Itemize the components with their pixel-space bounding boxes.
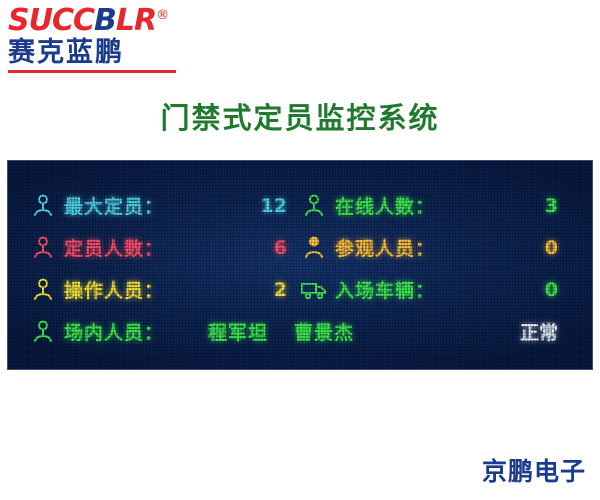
led-cell-max-capacity: 最大定员： 12 xyxy=(30,192,301,220)
led-cell-visitors: 参观人员： 0 xyxy=(301,234,572,262)
led-value: 12 xyxy=(261,195,301,217)
led-cell-online-count: 在线人数： 3 xyxy=(301,192,572,220)
led-row-onsite-personnel: 场内人员： 程军坦 曹景杰 正常 xyxy=(30,313,572,350)
led-row: 最大定员： 12 在线人数： 3 xyxy=(30,187,572,224)
truck-green-icon xyxy=(301,276,327,304)
led-cell-required-staff: 定员人数： 6 xyxy=(30,234,301,262)
led-label: 入场车辆： xyxy=(335,276,435,303)
led-display-panel: 最大定员： 12 在线人数： 3 xyxy=(7,160,593,370)
person-yellow-icon xyxy=(30,276,56,304)
person-pink-icon xyxy=(30,234,56,262)
logo-text-succ: SUCC xyxy=(8,3,94,38)
person-green-icon xyxy=(301,192,327,220)
led-value: 3 xyxy=(545,195,572,217)
list-item: 程军坦 xyxy=(208,318,268,345)
onsite-names-list: 程军坦 曹景杰 xyxy=(208,318,354,345)
logo-text-b: B xyxy=(94,3,116,38)
led-label: 在线人数： xyxy=(335,192,435,219)
led-value: 2 xyxy=(274,279,301,301)
led-rows-container: 最大定员： 12 在线人数： 3 xyxy=(30,187,572,350)
person-green-icon xyxy=(30,318,56,346)
logo-underline-divider xyxy=(8,70,176,73)
led-label: 操作人员： xyxy=(64,276,164,303)
led-label: 定员人数： xyxy=(64,234,164,261)
led-value: 6 xyxy=(274,237,301,259)
logo-chinese-text: 赛克蓝鹏 xyxy=(8,38,258,68)
led-value: 0 xyxy=(545,237,572,259)
led-label: 最大定员： xyxy=(64,192,164,219)
status-badge: 正常 xyxy=(520,318,572,345)
led-row: 操作人员： 2 入场车辆： 0 xyxy=(30,271,572,308)
list-item: 曹景杰 xyxy=(294,318,354,345)
led-value: 0 xyxy=(545,279,572,301)
led-label: 场内人员： xyxy=(64,318,164,345)
logo-text-lr: LR xyxy=(116,3,156,38)
led-row: 定员人数： 6 参观人员： 0 xyxy=(30,229,572,266)
logo-latin-text: SUCCBLR® xyxy=(8,6,168,36)
footer-brand: 京鹏电子 xyxy=(482,452,586,488)
registered-trademark-icon: ® xyxy=(156,8,168,23)
led-cell-operators: 操作人员： 2 xyxy=(30,276,301,304)
led-cell-vehicles: 入场车辆： 0 xyxy=(301,276,572,304)
page-title: 门禁式定员监控系统 xyxy=(0,95,600,137)
company-logo: SUCCBLR® 赛克蓝鹏 xyxy=(8,6,258,73)
person-cyan-icon xyxy=(30,192,56,220)
led-label: 参观人员： xyxy=(335,234,435,261)
person-orange-icon xyxy=(301,234,327,262)
